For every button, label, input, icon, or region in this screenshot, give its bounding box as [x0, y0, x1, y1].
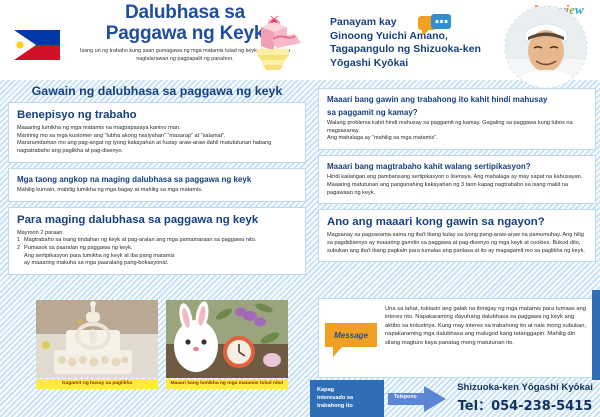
- cake-illustration-icon: [243, 16, 305, 79]
- paraan-trailing-0: Ang sertipikasyon para lumikha ng keyk a…: [17, 253, 297, 261]
- message-label: Message: [325, 323, 377, 347]
- arrow-label-telepono: Telepono: [394, 394, 417, 400]
- interview-line-3: Yōgashi Kyōkai: [330, 57, 510, 71]
- paraan-list: 1 Magtrabaho sa isang tindahan ng keyk a…: [17, 237, 297, 252]
- list-item-text: Magtrabaho sa isang tindahan ng keyk at …: [24, 237, 256, 243]
- card-para-maging-intro: Mayroon 2 paraan.: [17, 230, 297, 238]
- list-item-text: Pumasok sa paaralan ng paggawa ng keyk.: [24, 245, 133, 251]
- card-benepisyo-p2: Mararamdaman mo ang pag-angat ng iyong k…: [17, 140, 297, 155]
- chef-portrait-photo: [503, 4, 589, 90]
- photo-caption-wedding-cake: Gagamit ng husay sa paglikha: [36, 379, 158, 389]
- footer-cta: Kapag interesado sa trabahong ito: [310, 380, 384, 417]
- footer-cta-line-0: Kapag: [317, 386, 384, 394]
- speech-bubble-icon: [418, 14, 452, 43]
- right-column: Maaari bang gawin ang trabahong ito kahi…: [318, 88, 596, 267]
- card-ano-ang-gawin-p0: Magsanay sa pagsasama-sama ng iba't iban…: [327, 232, 587, 255]
- message-text: Una sa lahat, tuklasin ang galak na ibin…: [385, 305, 590, 347]
- footer-cta-line-2: trabahong ito: [317, 402, 384, 410]
- card-benepisyo-p1: Maririnig mo sa mga kustomer ang “lubha …: [17, 133, 297, 141]
- card-qa-sertipikasyon-p1: Maaaring matutunan ang pangunahing kakay…: [327, 182, 587, 197]
- left-column: Gawain ng dalubhasa sa paggawa ng keyk B…: [8, 82, 306, 280]
- right-arrow-icon: [388, 386, 446, 417]
- card-mga-taong-angkop-p0: Mahilig kumain, mahilig lumikha ng mga b…: [17, 187, 297, 195]
- card-para-maging-dalubhasa: Para maging dalubhasa sa paggawa ng keyk…: [8, 207, 306, 276]
- card-ano-ang-gawin: Ano ang maaari kong gawin sa ngayon? Mag…: [318, 209, 596, 262]
- card-mga-taong-angkop-heading: Mga taong angkop na maging dalubhasa sa …: [17, 174, 297, 185]
- footer-org-block: Shizuoka-ken Yōgashi Kyōkai Tel：054-238-…: [450, 380, 600, 414]
- card-qa-kamay-p0: Walang problema kahit hindi mahusay sa p…: [327, 120, 587, 135]
- infographic-page: Dalubhasa sa Paggawa ng Keyk Isang uri n…: [0, 0, 600, 417]
- list-item-number: 1: [17, 237, 20, 245]
- photo-item-wedding-cake: Gagamit ng husay sa paglikha: [36, 300, 158, 389]
- header: Dalubhasa sa Paggawa ng Keyk Isang uri n…: [0, 0, 600, 80]
- paraan-trailing-1: ay maaaring makuha sa mga paaralang pang…: [17, 260, 297, 268]
- photo-item-rabbit-cake: Maaari kang lumikha ng mga matamis tulad…: [166, 300, 288, 389]
- interview-line-2: Tagapangulo ng Shizuoka-ken: [330, 43, 510, 57]
- left-band-title: Gawain ng dalubhasa sa paggawa ng keyk: [8, 82, 306, 102]
- list-item: 1 Magtrabaho sa isang tindahan ng keyk a…: [17, 237, 297, 245]
- card-para-maging-heading: Para maging dalubhasa sa paggawa ng keyk: [17, 213, 297, 227]
- right-edge-accent: [592, 290, 600, 380]
- footer-contact: Kapag interesado sa trabahong ito Telepo…: [310, 380, 600, 417]
- footer-telephone: Tel：054-238-5415: [450, 395, 600, 414]
- card-qa-kamay-p1: Ang mahalaga ay “mahilig sa mga matamis”…: [327, 135, 587, 143]
- card-qa-kamay-heading-0: Maaari bang gawin ang trabahong ito kahi…: [327, 94, 587, 105]
- photo-gallery: Gagamit ng husay sa paglikha: [8, 300, 306, 396]
- card-benepisyo-heading: Benepisyo ng trabaho: [17, 108, 297, 122]
- philippines-flag-icon: [14, 30, 60, 60]
- card-mga-taong-angkop: Mga taong angkop na maging dalubhasa sa …: [8, 168, 306, 202]
- card-benepisyo-p0: Maaaring lumikha ng mga matamis na magpa…: [17, 125, 297, 133]
- rabbit-cake-photo: [166, 300, 288, 378]
- card-qa-sertipikasyon-heading: Maaari bang magtrabaho kahit walang sert…: [327, 161, 587, 172]
- list-item-number: 2: [17, 245, 20, 253]
- card-qa-sertipikasyon-p0: Hindi kailangan ang pambansang sertipika…: [327, 174, 587, 182]
- card-qa-kamay-heading-1: sa paggamit ng kamay?: [327, 107, 587, 118]
- photo-caption-rabbit-cake: Maaari kang lumikha ng mga matamis tulad…: [166, 379, 288, 389]
- footer-cta-line-1: interesado sa: [317, 394, 384, 402]
- card-qa-sertipikasyon: Maaari bang magtrabaho kahit walang sert…: [318, 155, 596, 204]
- message-box: Message Una sa lahat, tuklasin ang galak…: [318, 298, 598, 378]
- footer-org-name: Shizuoka-ken Yōgashi Kyōkai: [450, 382, 600, 393]
- card-qa-kamay: Maaari bang gawin ang trabahong ito kahi…: [318, 88, 596, 150]
- list-item: 2 Pumasok sa paaralan ng paggawa ng keyk…: [17, 245, 297, 253]
- card-benepisyo: Benepisyo ng trabaho Maaaring lumikha ng…: [8, 102, 306, 163]
- card-ano-ang-gawin-heading: Ano ang maaari kong gawin sa ngayon?: [327, 215, 587, 229]
- wedding-cake-photo: [36, 300, 158, 378]
